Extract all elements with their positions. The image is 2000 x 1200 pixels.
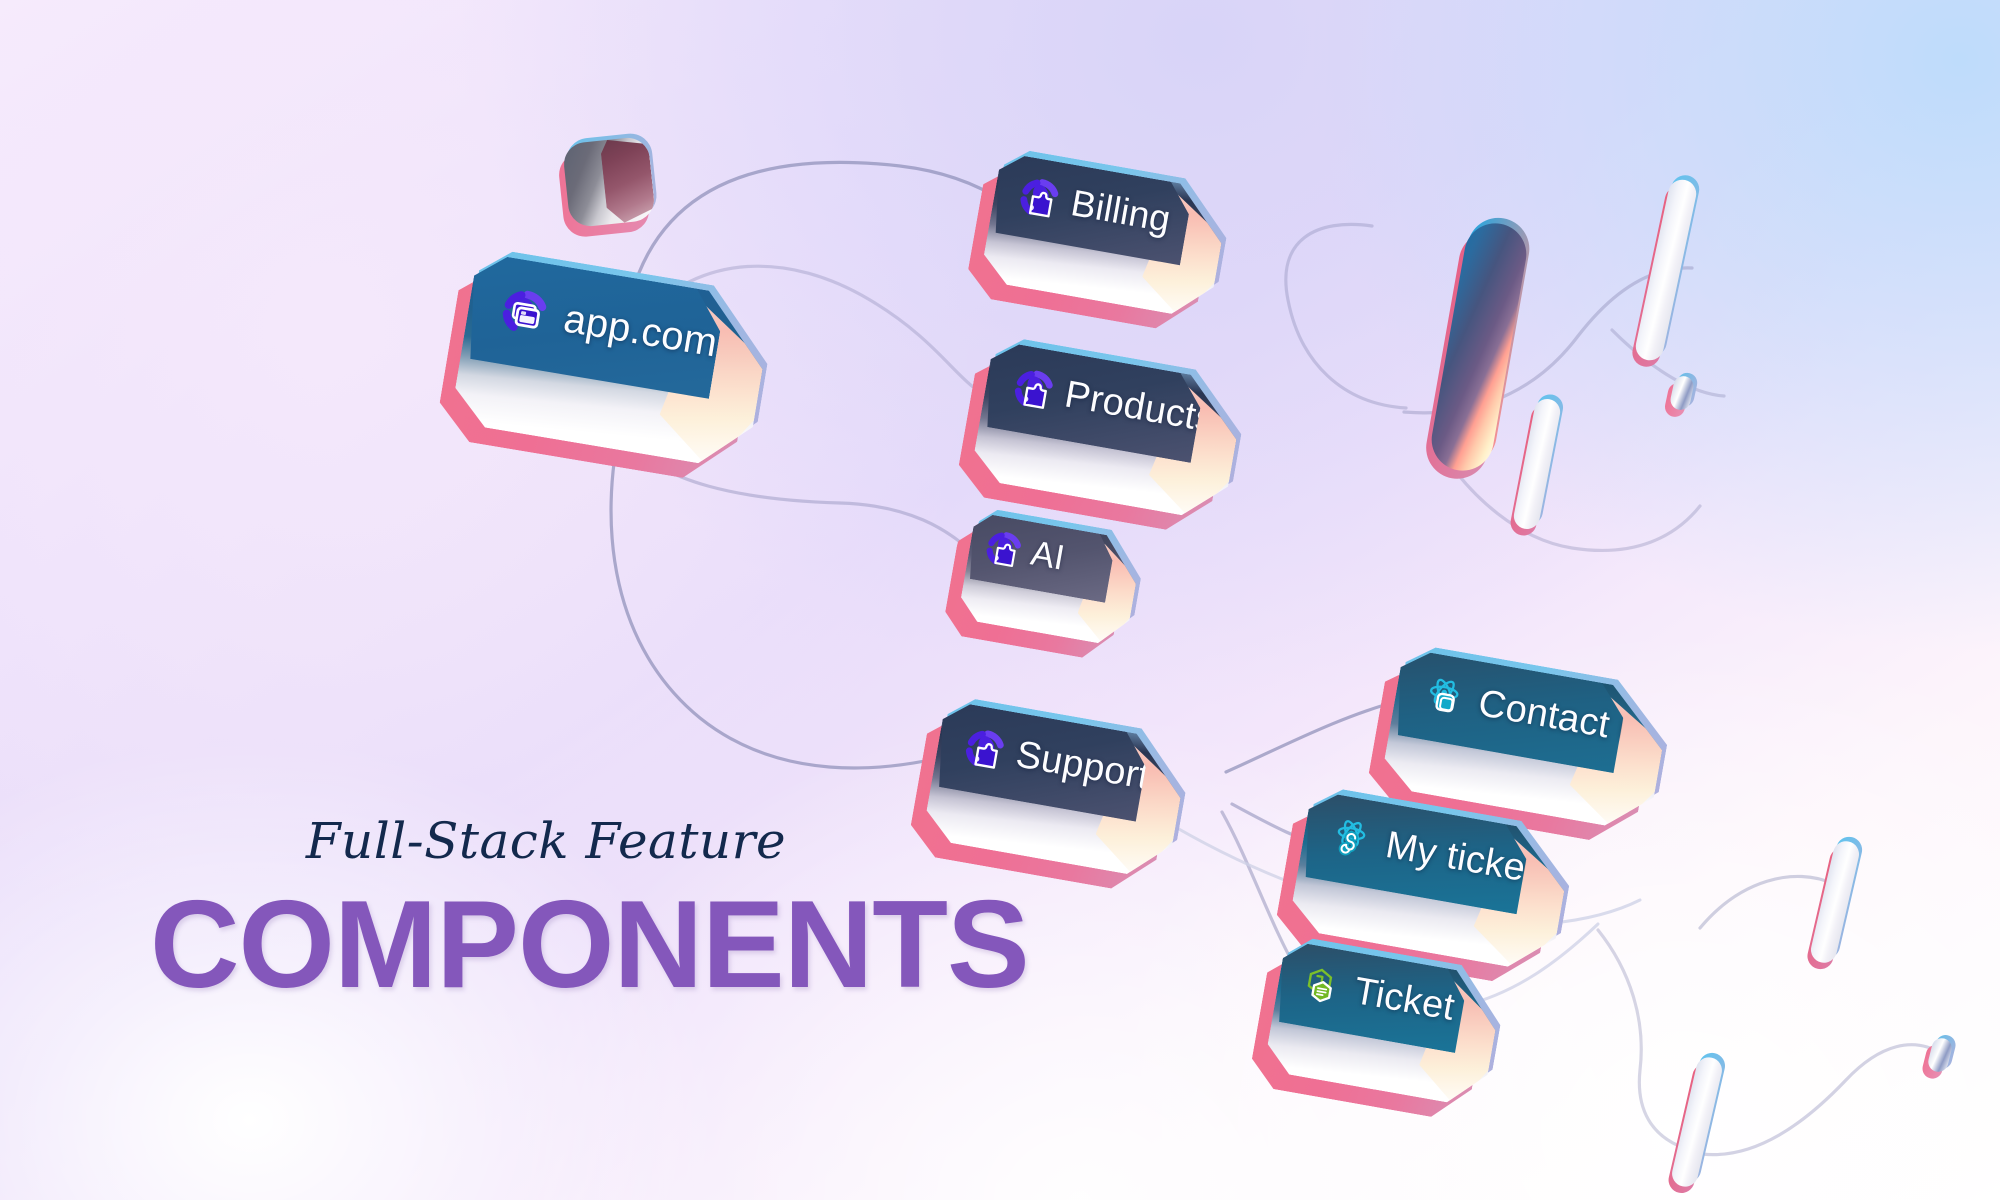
puzzle-lock-icon [1008,366,1059,417]
node-label: Products [1061,373,1218,442]
wire-top-right-a [1286,224,1406,408]
node-label: Ticket [1351,970,1458,1030]
cube-front-face [562,136,656,229]
subtitle: Full-Stack Feature [196,812,896,870]
headline-block: Full-Stack Feature COMPONENTS [150,812,1090,1008]
window-cards-icon [494,284,554,344]
node-label: Support [1013,733,1153,799]
page-title: COMPONENTS [150,882,1090,1008]
hero-illustration: app.com [0,0,2000,1200]
atom-spring-icon [1327,815,1380,868]
node-label: app.com [561,296,721,366]
wire-bottom-c [1702,1045,1942,1155]
cube-side-face [599,136,656,225]
puzzle-lock-icon [1014,174,1065,225]
node-label: Billing [1068,182,1174,241]
atom-square-icon [1419,673,1472,726]
wire-bottom-b [1598,930,1690,1150]
node-hexagon-icon [1297,962,1348,1013]
rounded-cube-decoration [562,136,656,229]
wire-top-right-c [1612,330,1724,396]
edge-app-billing [630,162,1010,300]
puzzle-lock-icon [959,725,1010,776]
wire-bottom-a [1700,876,1834,928]
puzzle-lock-icon [980,528,1026,574]
node-label: AI [1028,534,1068,579]
